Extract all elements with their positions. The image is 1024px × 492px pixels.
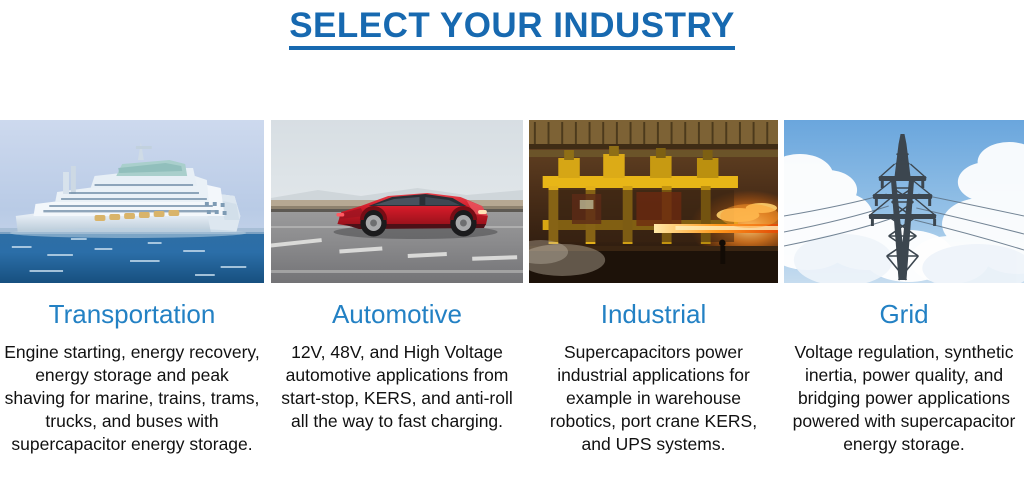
industry-description-transportation: Engine starting, energy recovery, energy… bbox=[0, 341, 264, 456]
industry-card-industrial[interactable]: Industrial Supercapacitors power industr… bbox=[526, 120, 781, 456]
red-car-icon bbox=[271, 120, 523, 283]
industry-description-automotive: 12V, 48V, and High Voltage automotive ap… bbox=[271, 341, 523, 433]
page-title: SELECT YOUR INDUSTRY bbox=[289, 8, 735, 50]
industry-card-automotive[interactable]: Automotive 12V, 48V, and High Voltage au… bbox=[268, 120, 526, 433]
transportation-image[interactable] bbox=[0, 120, 264, 283]
industry-description-grid: Voltage regulation, synthetic inertia, p… bbox=[784, 341, 1024, 456]
industrial-image[interactable] bbox=[529, 120, 778, 283]
grid-image[interactable] bbox=[784, 120, 1024, 283]
industry-heading-grid: Grid bbox=[879, 300, 928, 329]
industry-description-industrial: Supercapacitors power industrial applica… bbox=[529, 341, 778, 456]
industry-card-transportation[interactable]: Transportation Engine starting, energy r… bbox=[0, 120, 268, 456]
cruise-ship-icon bbox=[0, 120, 264, 283]
steel-mill-icon bbox=[529, 120, 778, 283]
automotive-image[interactable] bbox=[271, 120, 523, 283]
page-title-container: SELECT YOUR INDUSTRY bbox=[0, 0, 1024, 50]
industry-card-grid: Transportation Engine starting, energy r… bbox=[0, 120, 1024, 456]
industry-heading-automotive: Automotive bbox=[332, 300, 462, 329]
transmission-tower-icon bbox=[784, 120, 1024, 283]
industry-selector-page: SELECT YOUR INDUSTRY bbox=[0, 0, 1024, 492]
industry-heading-transportation: Transportation bbox=[49, 300, 216, 329]
industry-heading-industrial: Industrial bbox=[601, 300, 707, 329]
industry-card-grid[interactable]: Grid Voltage regulation, synthetic inert… bbox=[781, 120, 1024, 456]
